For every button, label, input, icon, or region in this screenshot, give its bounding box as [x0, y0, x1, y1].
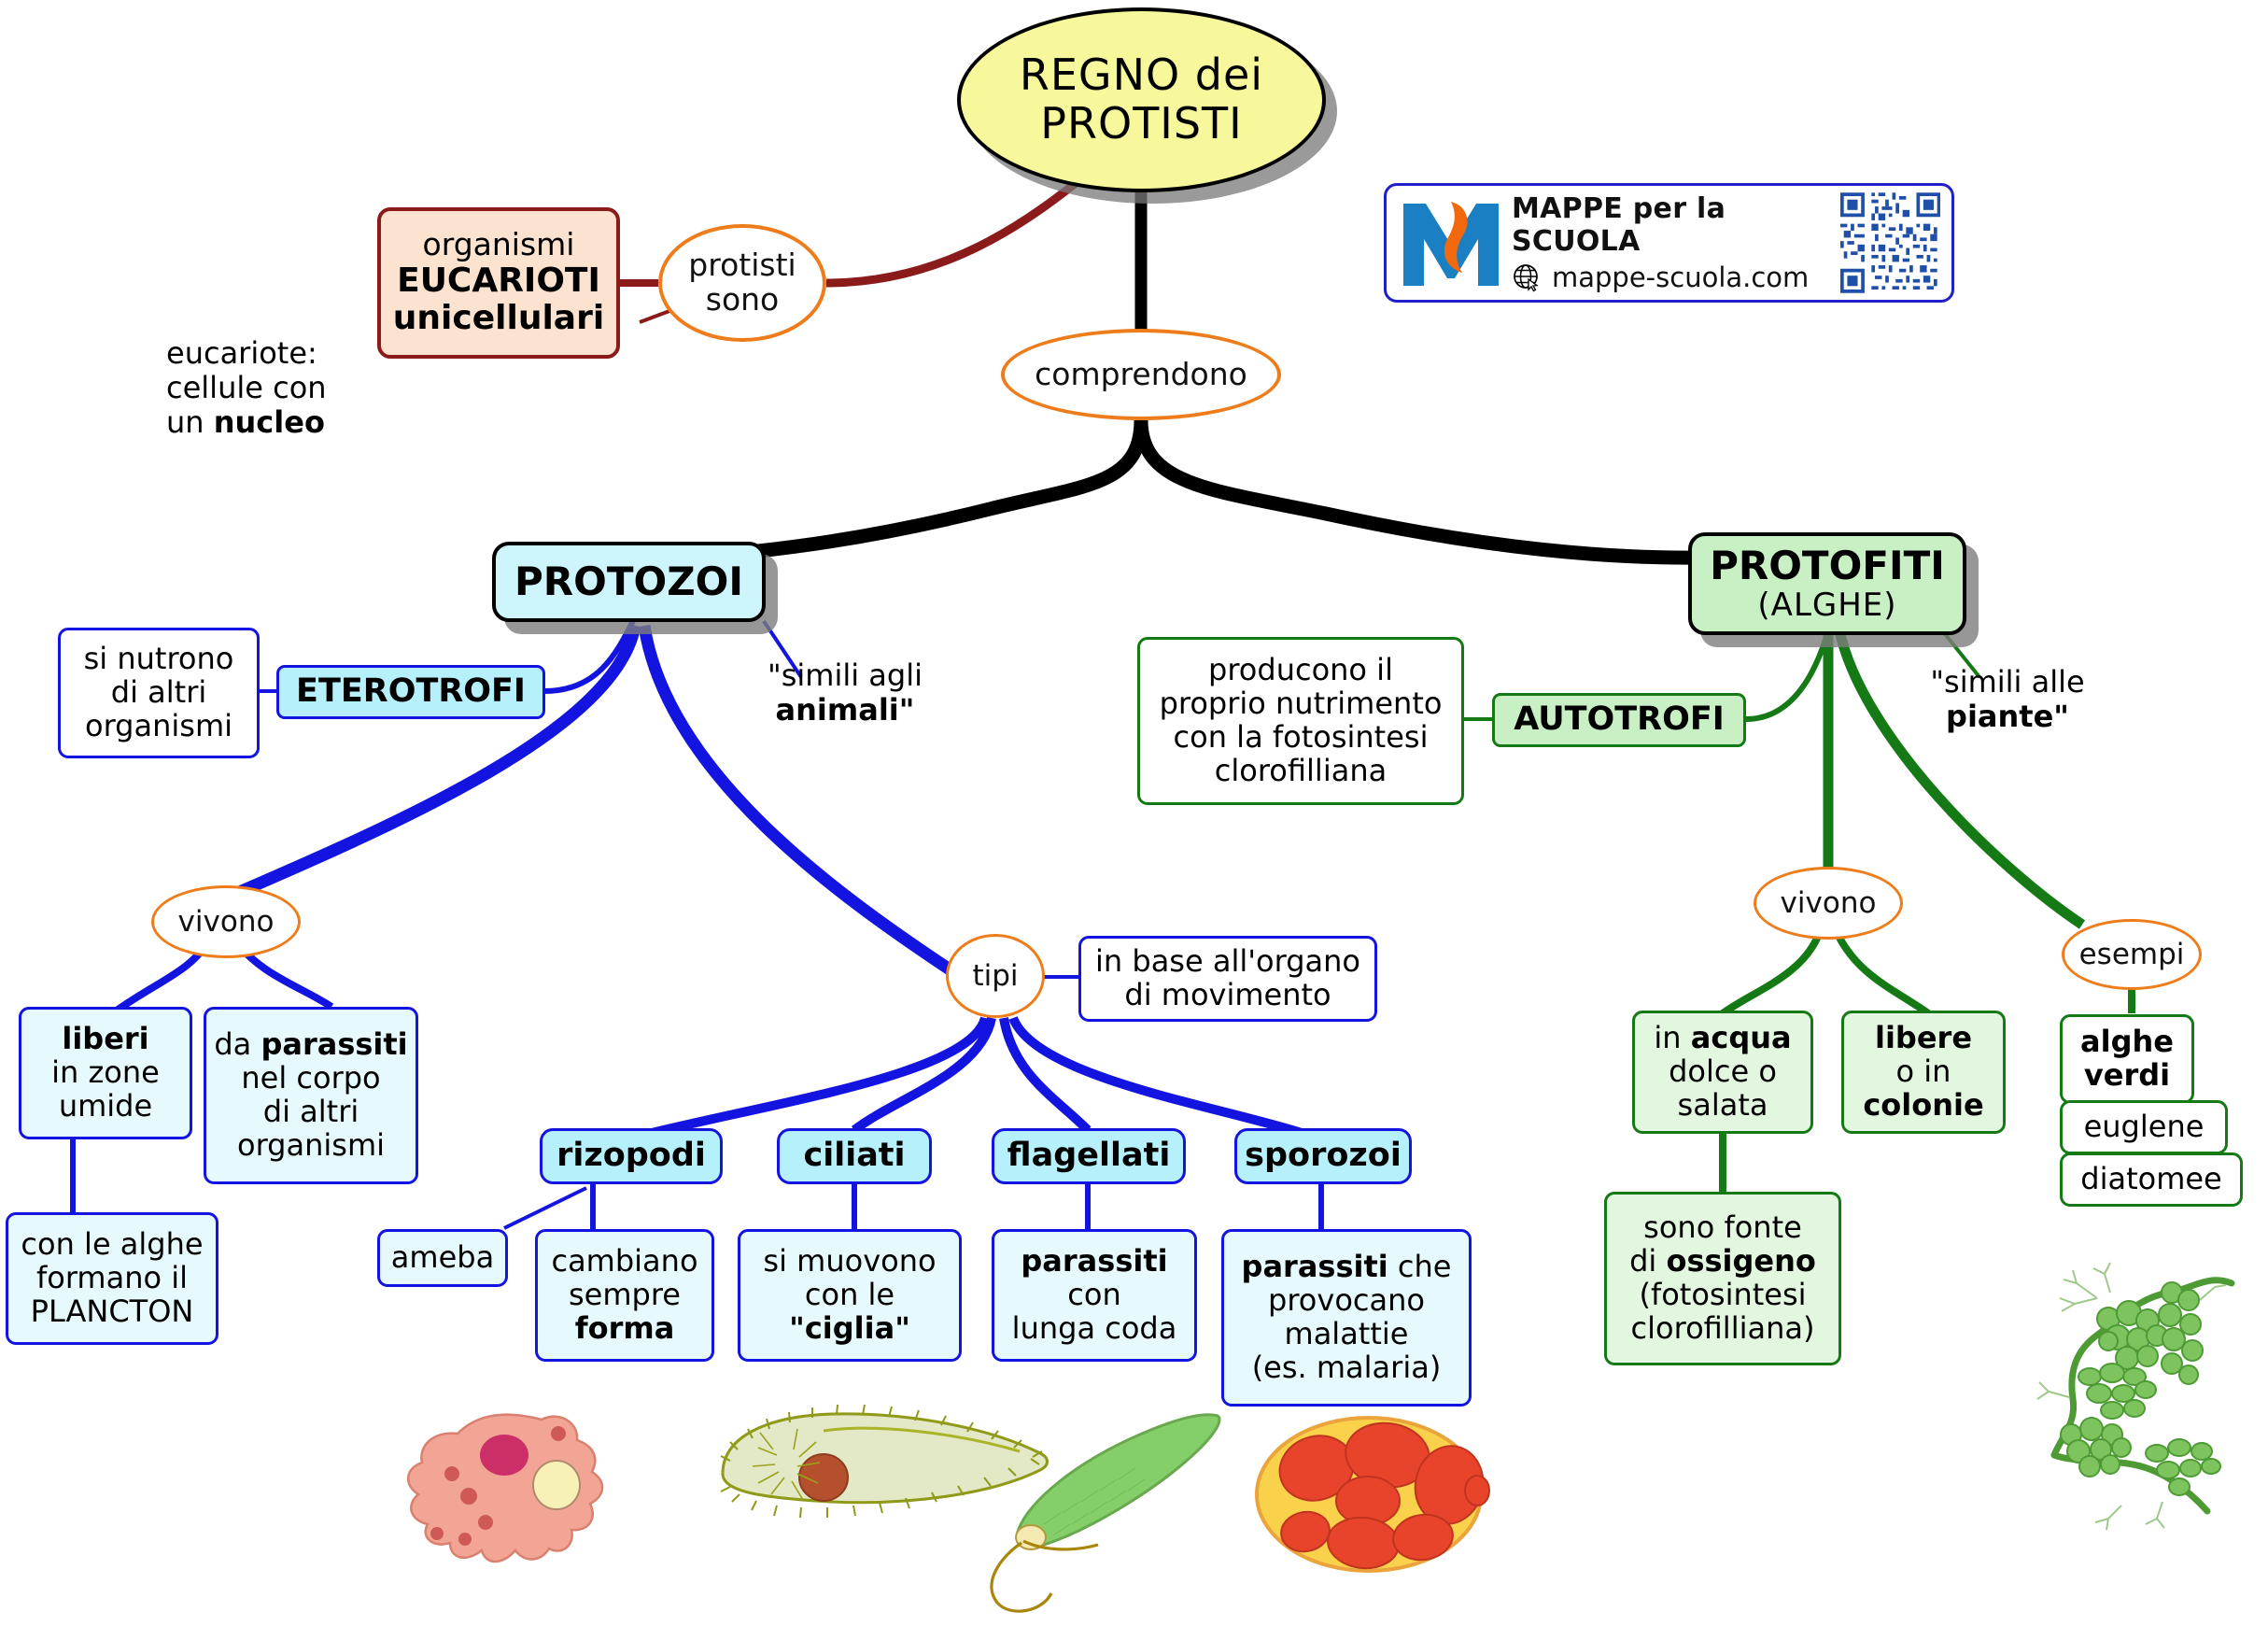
- category-protofiti-label: PROTOFITI: [1710, 544, 1945, 587]
- category-protofiti[interactable]: PROTOFITI (ALGHE): [1688, 532, 1966, 635]
- type-node-flagellati[interactable]: flagellati: [992, 1128, 1186, 1184]
- box-rizopodi-desc-l1: cambiano: [551, 1245, 697, 1279]
- root-node-regno-protisti[interactable]: REGNO dei PROTISTI: [957, 7, 1326, 192]
- link-protisti-sono[interactable]: protisti sono: [658, 224, 826, 342]
- wire-comprendono-to-protozoi: [644, 420, 1141, 560]
- note-simili-animali-plain: "simili agli: [768, 657, 923, 693]
- ameba-illustration: [392, 1392, 654, 1606]
- box-plancton-l3: PLANCTON: [31, 1295, 194, 1329]
- box-ameba-label: ameba: [391, 1241, 494, 1275]
- box-ossigeno-l4: clorofilliana): [1631, 1312, 1815, 1346]
- box-alghe-verdi-l2: verdi: [2084, 1059, 2170, 1093]
- qr-code-icon: [1840, 188, 1940, 298]
- link-vivono-left-label: vivono: [178, 906, 275, 939]
- box-libere-l2: o in: [1896, 1055, 1951, 1089]
- definition-note-line-3-plain: un: [166, 404, 214, 440]
- type-node-ciliati[interactable]: ciliati: [777, 1128, 932, 1184]
- box-ossigeno-l2: di ossigeno: [1629, 1245, 1816, 1279]
- box-euglene-label: euglene: [2084, 1110, 2205, 1144]
- box-libere-l1: libere: [1875, 1022, 1972, 1055]
- box-protozoi-liberi[interactable]: liberi in zone umide: [19, 1007, 192, 1139]
- logo-brand: MAPPE per la SCUOLA: [1512, 192, 1833, 258]
- category-protozoi-label: PROTOZOI: [514, 559, 743, 603]
- sporozoo-illustration: [1249, 1401, 1492, 1588]
- box-ameba-example[interactable]: ameba: [377, 1229, 508, 1287]
- box-ciliati-desc-l1: si muovono: [763, 1245, 936, 1279]
- box-plancton[interactable]: con le alghe formano il PLANCTON: [6, 1212, 218, 1345]
- logo-text-block: MAPPE per la SCUOLA mappe-scuola.com: [1512, 192, 1833, 293]
- box-ciliati-desc-l3: "ciglia": [789, 1312, 910, 1346]
- desc-autotrofi-l4: clorofilliana: [1215, 755, 1387, 788]
- logo-website: mappe-scuola.com: [1552, 262, 1809, 293]
- tag-eterotrofi[interactable]: ETEROTROFI: [276, 665, 545, 719]
- box-protozoi-parassiti[interactable]: da parassiti nel corpo di altri organism…: [204, 1007, 418, 1184]
- box-parassiti-l1: da parassiti: [214, 1028, 407, 1062]
- desc-autotrofi-l3: con la fotosintesi: [1174, 721, 1429, 755]
- box-rizopodi-desc-l3: forma: [575, 1312, 675, 1346]
- box-acqua-l3: salata: [1678, 1089, 1768, 1123]
- desc-eterotrofi-l1: si nutrono: [84, 643, 234, 676]
- box-parassiti-l4: organismi: [237, 1129, 385, 1163]
- tag-autotrofi[interactable]: AUTOTROFI: [1492, 693, 1746, 747]
- box-ciliati-desc[interactable]: si muovono con le "ciglia": [738, 1229, 962, 1362]
- box-parassiti-l2: nel corpo: [241, 1062, 380, 1096]
- link-vivono-right-label: vivono: [1781, 887, 1877, 920]
- desc-autotrofi-l2: proprio nutrimento: [1160, 687, 1443, 721]
- tag-eterotrofi-label: ETEROTROFI: [296, 673, 526, 710]
- box-alghe-verdi-l1: alghe: [2080, 1025, 2174, 1059]
- alga-verde-illustration: [2007, 1261, 2260, 1532]
- wire-autotrofi-protofiti: [1746, 630, 1828, 719]
- link-protisti-sono-l2: sono: [706, 283, 780, 318]
- definition-note-eucariote: eucariote: cellule con un nucleo: [166, 336, 446, 439]
- category-protofiti-sub: (ALGHE): [1757, 587, 1896, 623]
- wire-vivono-libere: [1838, 934, 1928, 1013]
- definition-line-3: unicellulari: [393, 300, 604, 337]
- box-protofiti-libere[interactable]: libere o in colonie: [1841, 1011, 2006, 1134]
- box-tipi-criterio-l2: di movimento: [1124, 979, 1331, 1012]
- type-node-rizopodi[interactable]: rizopodi: [540, 1128, 723, 1184]
- note-simili-animali-bold: animali": [776, 692, 915, 728]
- note-simili-animali: "simili agli animali": [728, 658, 962, 728]
- box-flagellati-desc-l3: lunga coda: [1012, 1312, 1177, 1346]
- link-vivono-protofiti[interactable]: vivono: [1754, 867, 1903, 940]
- box-libere-l3: colonie: [1863, 1089, 1983, 1123]
- box-liberi-bold: liberi: [62, 1023, 148, 1056]
- desc-eterotrofi-l3: organismi: [85, 710, 232, 743]
- box-ciliati-desc-l2: con le: [805, 1279, 895, 1312]
- tag-autotrofi-label: AUTOTROFI: [1514, 701, 1725, 738]
- definition-line-1: organismi: [423, 228, 575, 262]
- box-plancton-l1: con le alghe: [21, 1228, 203, 1262]
- link-tipi[interactable]: tipi: [946, 934, 1045, 1018]
- box-ossigeno-l3: (fotosintesi: [1639, 1279, 1806, 1312]
- box-sporozoi-desc-l3: malattie: [1285, 1318, 1409, 1351]
- wire-comprendono-to-protofiti: [1141, 420, 1765, 558]
- note-simili-piante-plain: "simili alle: [1930, 664, 2084, 700]
- link-comprendono[interactable]: comprendono: [1001, 329, 1281, 420]
- box-flagellati-desc-l2: con: [1067, 1279, 1120, 1312]
- desc-autotrofi[interactable]: producono il proprio nutrimento con la f…: [1137, 637, 1464, 805]
- desc-eterotrofi-l2: di altri: [111, 676, 206, 710]
- box-tipi-criterio-l1: in base all'organo: [1095, 945, 1360, 979]
- link-vivono-protozoi[interactable]: vivono: [151, 885, 301, 958]
- box-sporozoi-desc-l4: (es. malaria): [1252, 1351, 1442, 1385]
- box-flagellati-desc[interactable]: parassiti con lunga coda: [992, 1229, 1197, 1362]
- box-liberi-l3: umide: [59, 1090, 152, 1124]
- box-example-alghe-verdi[interactable]: alghe verdi: [2060, 1014, 2194, 1104]
- definition-line-2: EUCARIOTI: [397, 262, 600, 300]
- wire-vivono-acqua: [1723, 934, 1819, 1013]
- type-flagellati-label: flagellati: [1007, 1138, 1171, 1174]
- concept-map-canvas: REGNO dei PROTISTI organismi EUCARIOTI u…: [0, 0, 2268, 1626]
- link-comprendono-label: comprendono: [1035, 358, 1247, 392]
- root-line-1: REGNO dei: [1020, 51, 1263, 100]
- type-ciliati-label: ciliati: [803, 1138, 905, 1174]
- logo-m-icon: [1396, 192, 1506, 293]
- box-ossigeno-l1: sono fonte: [1643, 1211, 1802, 1245]
- link-tipi-label: tipi: [972, 960, 1018, 993]
- type-rizopodi-label: rizopodi: [556, 1138, 706, 1174]
- definition-note-line-1: eucariote:: [166, 335, 317, 371]
- note-simili-piante-bold: piante": [1946, 699, 2069, 734]
- box-sporozoi-desc[interactable]: parassiti che provocano malattie (es. ma…: [1221, 1229, 1472, 1407]
- box-example-diatomee[interactable]: diatomee: [2060, 1152, 2243, 1207]
- box-example-euglene[interactable]: euglene: [2060, 1100, 2228, 1154]
- box-rizopodi-desc-l2: sempre: [569, 1279, 681, 1312]
- box-protofiti-acqua[interactable]: in acqua dolce o salata: [1632, 1011, 1813, 1134]
- type-node-sporozoi[interactable]: sporozoi: [1234, 1128, 1412, 1184]
- definition-note-line-2: cellule con: [166, 370, 327, 405]
- logo-badge-mappe-scuola[interactable]: MAPPE per la SCUOLA mappe-scuola.com: [1384, 183, 1954, 303]
- box-flagellati-desc-l1: parassiti: [1021, 1245, 1167, 1279]
- wire-rizopodi-ameba: [504, 1188, 586, 1228]
- box-sporozoi-desc-l2: provocano: [1268, 1284, 1425, 1318]
- wire-tipi-sporozoi: [1013, 1018, 1307, 1135]
- category-protozoi[interactable]: PROTOZOI: [492, 542, 766, 622]
- link-esempi[interactable]: esempi: [2062, 919, 2202, 990]
- box-plancton-l2: formano il: [36, 1262, 188, 1295]
- root-line-2: PROTISTI: [1040, 100, 1242, 148]
- desc-eterotrofi[interactable]: si nutrono di altri organismi: [58, 628, 260, 758]
- box-acqua-l1: in acqua: [1654, 1022, 1791, 1055]
- box-rizopodi-desc[interactable]: cambiano sempre forma: [535, 1229, 714, 1362]
- box-tipi-criterio[interactable]: in base all'organo di movimento: [1078, 936, 1377, 1022]
- definition-note-line-3-bold: nucleo: [214, 404, 325, 440]
- desc-autotrofi-l1: producono il: [1208, 654, 1393, 687]
- type-sporozoi-label: sporozoi: [1245, 1138, 1402, 1174]
- link-protisti-sono-l1: protisti: [688, 248, 796, 283]
- box-diatomee-label: diatomee: [2080, 1163, 2221, 1196]
- note-simili-piante: "simili alle piante": [1886, 665, 2129, 734]
- globe-icon: [1512, 262, 1543, 293]
- box-liberi-l2: in zone: [51, 1056, 160, 1090]
- link-esempi-label: esempi: [2079, 939, 2185, 971]
- wire-tipi-rizopodi: [644, 1018, 985, 1135]
- box-sporozoi-desc-l1: parassiti che: [1242, 1251, 1452, 1284]
- wire-tipi-flagellati: [1004, 1018, 1088, 1130]
- box-acqua-l2: dolce o: [1669, 1055, 1777, 1089]
- box-ossigeno[interactable]: sono fonte di ossigeno (fotosintesi clor…: [1604, 1192, 1841, 1365]
- box-parassiti-l3: di altri: [263, 1096, 359, 1129]
